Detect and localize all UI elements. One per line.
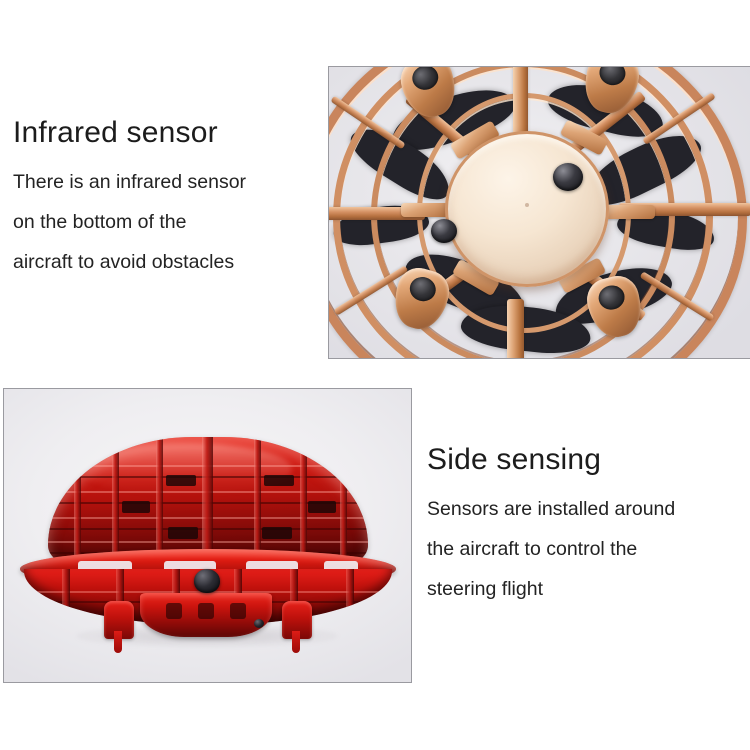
cage-meridian-bar xyxy=(340,437,347,565)
cage-gap xyxy=(264,475,294,486)
description-line: Sensors are installed around xyxy=(427,489,747,529)
cage-meridian-bar xyxy=(254,437,261,565)
description-line: aircraft to avoid obstacles xyxy=(13,242,318,282)
hub-vent xyxy=(166,603,182,619)
motor-pod-lens xyxy=(597,67,628,88)
hub-vent xyxy=(198,603,214,619)
cage-gap xyxy=(122,501,150,513)
landing-leg xyxy=(104,601,134,639)
cage-gap xyxy=(166,475,196,486)
description-line: on the bottom of the xyxy=(13,202,318,242)
description-line: the aircraft to control the xyxy=(427,529,747,569)
red-drone-illustration xyxy=(4,389,411,682)
red-photo-stage xyxy=(4,389,411,682)
side-sensing-heading: Side sensing xyxy=(427,443,747,476)
drone-central-hub xyxy=(140,593,272,637)
cage-meridian-bar xyxy=(156,437,163,565)
cage-gap xyxy=(262,527,292,539)
side-sensing-description: Sensors are installed around the aircraf… xyxy=(427,489,747,609)
skirt-bar xyxy=(346,569,354,625)
cage-strut xyxy=(507,299,524,358)
side-sensing-text-block: Side sensing Sensors are installed aroun… xyxy=(427,443,747,609)
side-sensor-dome xyxy=(194,569,220,593)
cage-meridian-bar xyxy=(112,437,119,565)
infrared-sensor-text-block: Infrared sensor There is an infrared sen… xyxy=(13,116,318,282)
product-feature-page: Infrared sensor There is an infrared sen… xyxy=(0,0,750,750)
drone-dome-cage xyxy=(48,437,368,565)
red-drone-side-view-photo xyxy=(3,388,412,683)
infrared-sensor-disc xyxy=(445,131,609,287)
description-line: There is an infrared sensor xyxy=(13,162,318,202)
landing-leg xyxy=(282,601,312,639)
motor-pod-lens xyxy=(596,283,627,313)
skirt-bar xyxy=(62,569,70,625)
infrared-sensor-dome xyxy=(431,219,457,243)
cage-meridian-bar xyxy=(74,437,81,565)
infrared-sensor-heading: Infrared sensor xyxy=(13,116,318,149)
underside-sensor-dot xyxy=(254,619,264,628)
gold-drone-bottom-view-photo xyxy=(328,66,750,359)
cage-gap xyxy=(168,527,198,539)
cage-link-plate xyxy=(401,203,451,217)
motor-pod-lens xyxy=(407,274,439,304)
gold-drone-illustration xyxy=(329,67,750,358)
cage-meridian-bar xyxy=(202,437,213,565)
motor-pod-lens xyxy=(409,67,441,93)
cage-link-plate xyxy=(603,205,655,219)
description-line: steering flight xyxy=(427,569,747,609)
infrared-sensor-dome xyxy=(553,163,583,191)
cage-gap xyxy=(308,501,336,513)
cage-meridian-bar xyxy=(300,437,307,565)
gold-photo-stage xyxy=(329,67,750,358)
hub-vent xyxy=(230,603,246,619)
infrared-sensor-description: There is an infrared sensor on the botto… xyxy=(13,162,318,282)
